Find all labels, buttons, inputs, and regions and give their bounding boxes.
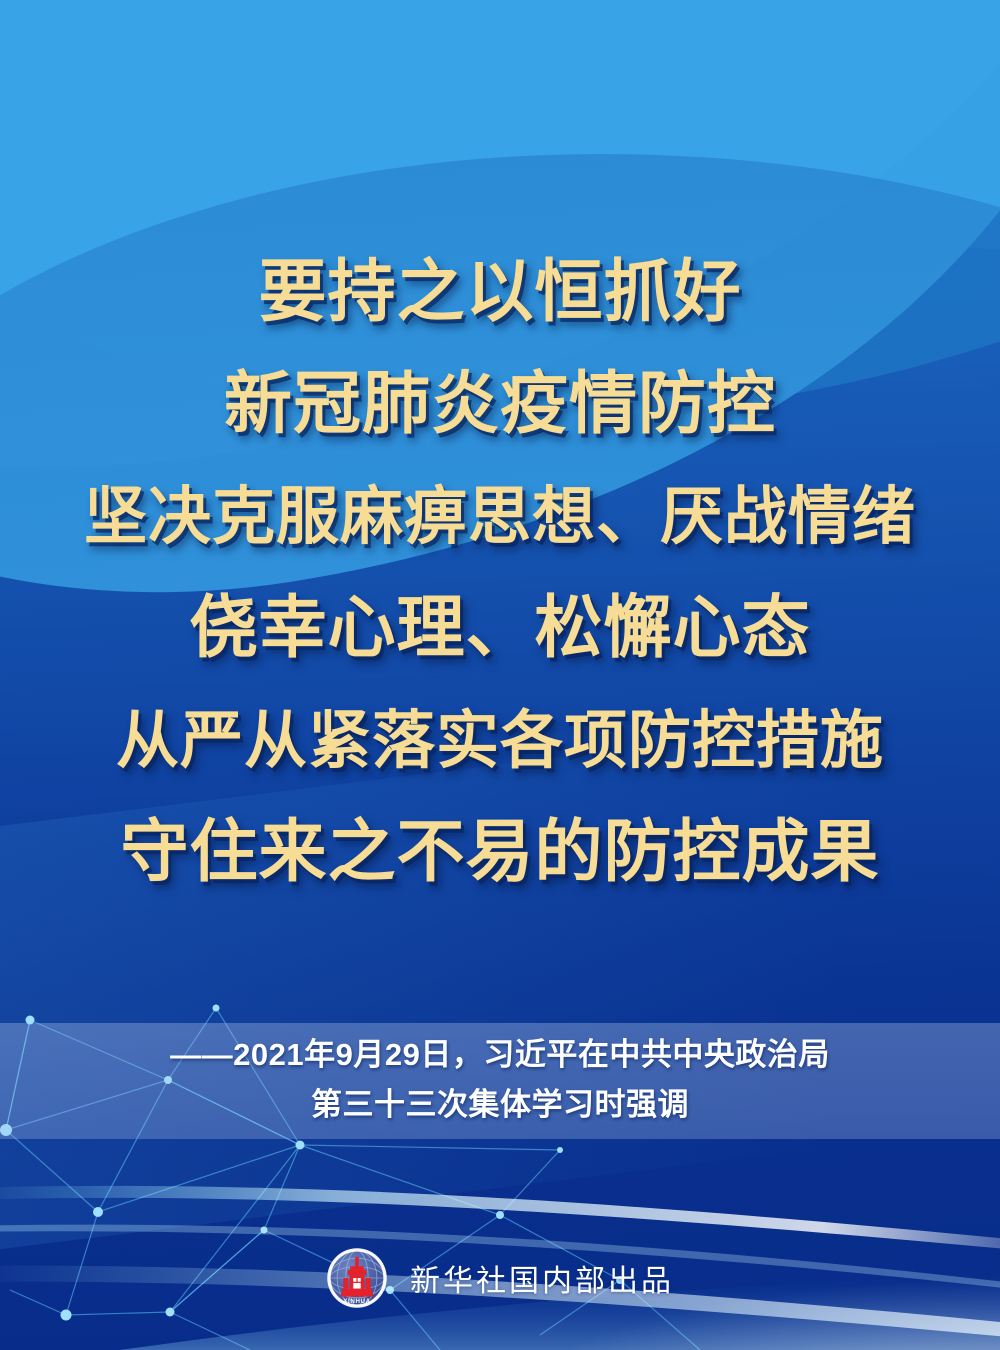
footer-credit-text: 新华社国内部出品 bbox=[410, 1256, 674, 1300]
attribution-block: ——2021年9月29日，习近平在中共中央政治局 第三十三次集体学习时强调 bbox=[0, 1030, 1000, 1130]
headline-line-2: 新冠肺炎疫情防控 bbox=[0, 348, 1000, 460]
logo-wordmark: XINHUA bbox=[343, 1298, 370, 1305]
attribution-line-2: 第三十三次集体学习时强调 bbox=[0, 1080, 1000, 1130]
headline-block: 要持之以恒抓好 新冠肺炎疫情防控 坚决克服麻痹思想、厌战情绪 侥幸心理、松懈心态… bbox=[0, 236, 1000, 908]
headline-line-3: 坚决克服麻痹思想、厌战情绪 bbox=[0, 460, 1000, 572]
xinhua-logo-icon: XINHUA bbox=[326, 1247, 388, 1309]
poster-canvas: 要持之以恒抓好 新冠肺炎疫情防控 坚决克服麻痹思想、厌战情绪 侥幸心理、松懈心态… bbox=[0, 0, 1000, 1350]
headline-line-4: 侥幸心理、松懈心态 bbox=[0, 572, 1000, 684]
headline-line-6: 守住来之不易的防控成果 bbox=[0, 796, 1000, 908]
headline-line-5: 从严从紧落实各项防控措施 bbox=[0, 684, 1000, 796]
attribution-line-1: ——2021年9月29日，习近平在中共中央政治局 bbox=[0, 1030, 1000, 1080]
footer: XINHUA 新华社国内部出品 bbox=[0, 1247, 1000, 1309]
headline-line-1: 要持之以恒抓好 bbox=[0, 236, 1000, 348]
